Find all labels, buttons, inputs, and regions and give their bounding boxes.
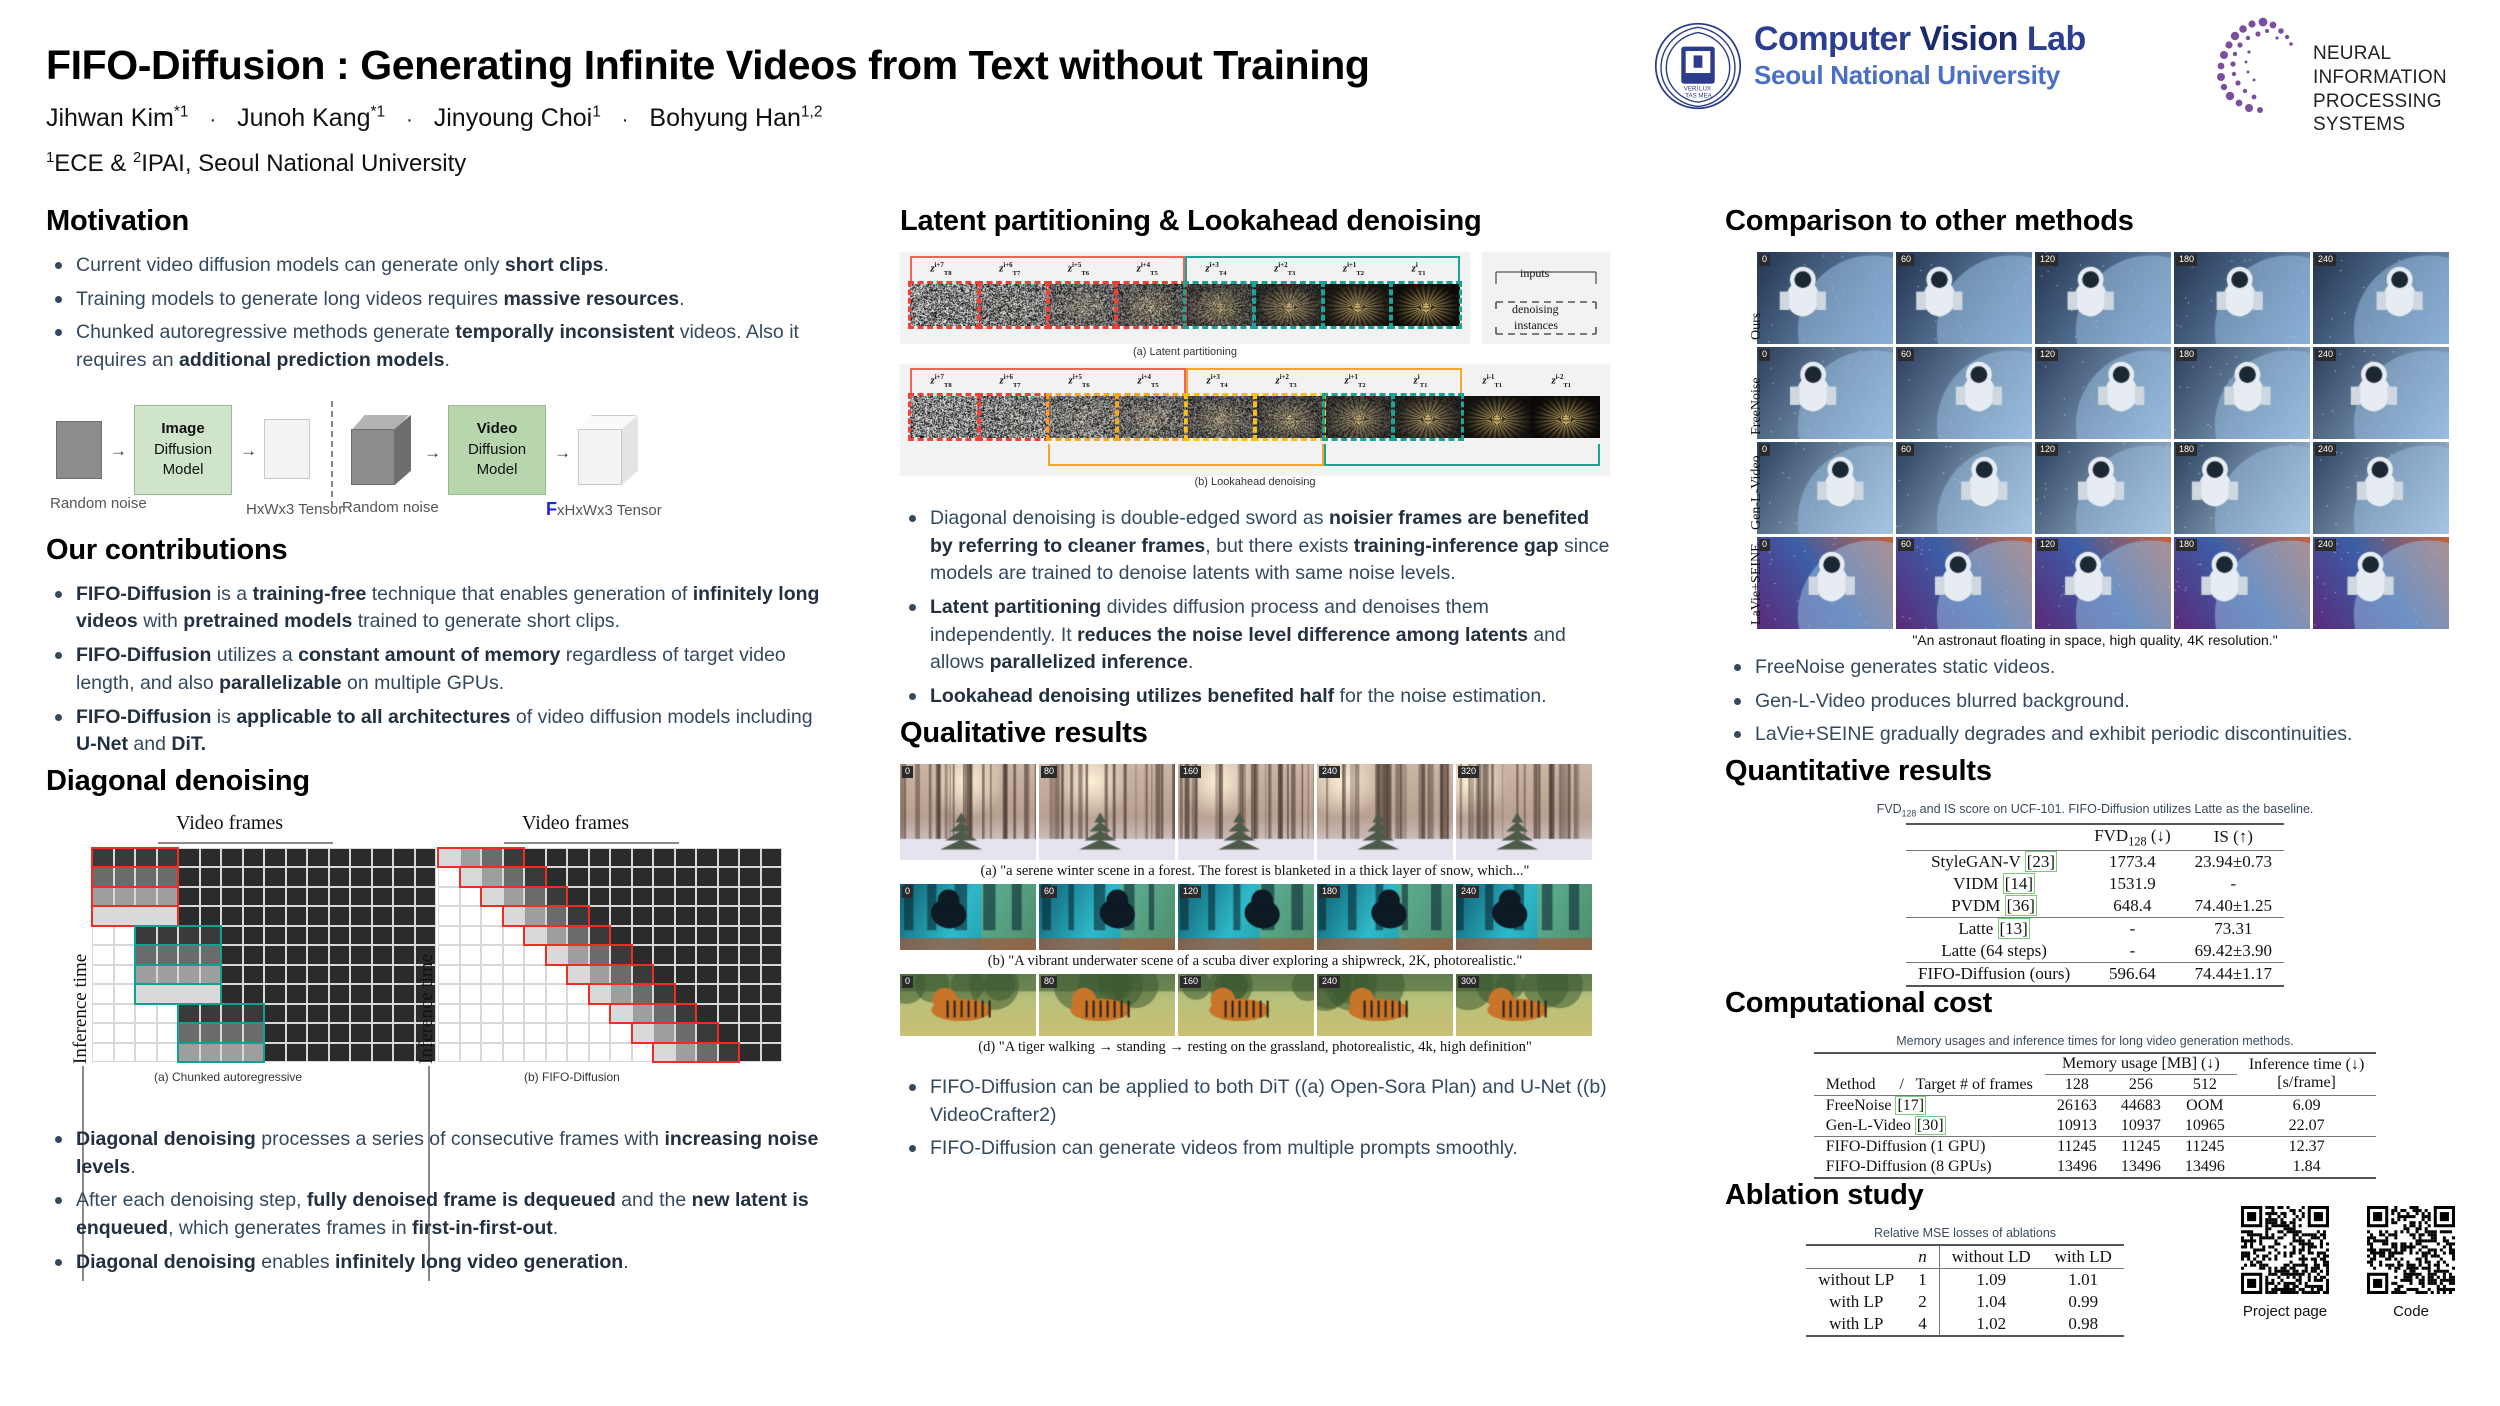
grid-cell [307, 984, 329, 1004]
neurips-wordmark: NEURAL INFORMATION PROCESSING SYSTEMS [2313, 42, 2495, 137]
frame-number-badge: 160 [1180, 766, 1201, 778]
grid-cell [350, 1004, 372, 1024]
grid-cell [524, 945, 546, 965]
grid-cell [503, 945, 525, 965]
grid-cell [92, 1043, 114, 1063]
author-2: Jinyoung Choi1 [434, 104, 601, 132]
video-frame: 240 [2313, 442, 2449, 534]
qr-code-group: Project page Code [2241, 1206, 2455, 1320]
grid-cell [761, 1004, 783, 1024]
grid-cell [221, 984, 243, 1004]
cv-lab-line2: Seoul National University [1754, 60, 2086, 91]
grid-cell [157, 906, 179, 926]
grid-cell [393, 887, 415, 907]
qr-project-page-item[interactable]: Project page [2241, 1206, 2329, 1320]
grid-cell [610, 848, 632, 868]
image-model-line3: Model [163, 460, 204, 480]
grid-cell [221, 1043, 243, 1063]
grid-cell [460, 887, 482, 907]
grid-cell [264, 984, 286, 1004]
grid-cell [200, 945, 222, 965]
grid-cell [243, 926, 265, 946]
grid-cell [632, 848, 654, 868]
grid-cell [675, 887, 697, 907]
grid-cell [221, 1004, 243, 1024]
grid-cell [739, 1004, 761, 1024]
frame-number-badge: 120 [2037, 539, 2058, 551]
grid-cell [372, 1023, 394, 1043]
frame-number-badge: 240 [2315, 539, 2336, 551]
grid-cell [307, 1023, 329, 1043]
frame-number-badge: 60 [1898, 444, 1914, 456]
grid-cell [135, 1023, 157, 1043]
grid-cell [653, 906, 675, 926]
grid-cell [329, 1023, 351, 1043]
grid-cell [567, 1043, 589, 1063]
grid-cell [264, 906, 286, 926]
grid-cell [632, 1023, 654, 1043]
grid-cell [481, 984, 503, 1004]
comparison-row: 060120180240 [1757, 537, 2465, 629]
grid-cell [307, 1004, 329, 1024]
grid-cell [653, 887, 675, 907]
grid-cell [460, 867, 482, 887]
grid-cell [610, 1004, 632, 1024]
qr-code-icon[interactable] [2367, 1206, 2455, 1294]
grid-cell [546, 926, 568, 946]
grid-cell [350, 1023, 372, 1043]
grid-cell [546, 945, 568, 965]
grid-cell [524, 1004, 546, 1024]
hwx3-tensor-label: HxWx3 Tensor [246, 501, 343, 518]
qr-project-page-label: Project page [2241, 1303, 2329, 1320]
grid-cell [243, 848, 265, 868]
grid-cell [589, 867, 611, 887]
grid-cell [438, 1023, 460, 1043]
list-item: Current video diffusion models can gener… [46, 252, 836, 280]
qr-project-page-icon[interactable] [2241, 1206, 2329, 1294]
grid-cell [610, 926, 632, 946]
video-frame: 180 [2174, 347, 2310, 439]
right-random-noise-label: Random noise [342, 499, 439, 516]
grid-cell [114, 1043, 136, 1063]
latent-frame [1462, 396, 1531, 438]
grid-cell [589, 848, 611, 868]
grid-cell [696, 887, 718, 907]
list-item: After each denoising step, fully denoise… [46, 1187, 836, 1242]
grid-cell [524, 887, 546, 907]
grid-cell [481, 945, 503, 965]
grid-cell [696, 1004, 718, 1024]
grid-cell [675, 1043, 697, 1063]
grid-cell [114, 906, 136, 926]
grid-cell [718, 867, 740, 887]
affiliation: 1ECE & 2IPAI, Seoul National University [46, 150, 466, 178]
poster-header: FIFO-Diffusion : Generating Infinite Vid… [0, 0, 2500, 185]
list-item: FIFO-Diffusion can generate videos from … [900, 1135, 1610, 1163]
qualitative-caption: (a) "a serene winter scene in a forest. … [900, 863, 1610, 880]
grid-cell [438, 906, 460, 926]
list-item: Gen-L-Video produces blurred background. [1725, 688, 2465, 716]
grid-cell [393, 945, 415, 965]
grid-cell [460, 945, 482, 965]
svg-text:MEA: MEA [1698, 93, 1712, 100]
grid-cell [264, 887, 286, 907]
grid-cell [739, 1023, 761, 1043]
grid-cell [610, 867, 632, 887]
grid-cell [307, 926, 329, 946]
grid-cell [92, 965, 114, 985]
grid-cell [632, 1004, 654, 1024]
svg-text:LUX: LUX [1699, 86, 1711, 93]
video-frame: 0 [1757, 537, 1893, 629]
grid-cell [329, 887, 351, 907]
grid-cell [200, 984, 222, 1004]
grid-cell [610, 906, 632, 926]
grid-cell [178, 1023, 200, 1043]
grid-cell [157, 867, 179, 887]
grid-cell [546, 1043, 568, 1063]
grid-cell [718, 965, 740, 985]
grid-cell [567, 906, 589, 926]
output-tensor-cube [578, 415, 638, 487]
fxhwx3-tensor-label: FxHxWx3 Tensor [546, 499, 662, 520]
frame-number-badge: 240 [2315, 254, 2336, 266]
grid-cell [653, 1043, 675, 1063]
grid-cell [696, 867, 718, 887]
video-frame: 180 [2174, 537, 2310, 629]
grid-cell [696, 984, 718, 1004]
video-frame: 160 [1178, 974, 1314, 1036]
grid-cell [567, 926, 589, 946]
grid-cell [114, 848, 136, 868]
grid-cell [481, 906, 503, 926]
denoising-instance-box [1115, 393, 1188, 441]
comparison-figure: 060120180240Ours060120180240FreeNoise060… [1725, 252, 2465, 629]
grid-cell [460, 1023, 482, 1043]
denoising-instance-box [1184, 393, 1257, 441]
grid-cell [739, 887, 761, 907]
grid-cell [632, 926, 654, 946]
frame-number-badge: 240 [1319, 766, 1340, 778]
grid-cell [696, 906, 718, 926]
x-axis-arrow-a [158, 842, 333, 844]
grid-cell [718, 945, 740, 965]
grid-cell [243, 1043, 265, 1063]
grid-cell [221, 926, 243, 946]
list-item: Diagonal denoising is double-edged sword… [900, 505, 1610, 588]
grid-cell [92, 945, 114, 965]
denoising-instance-box [1252, 281, 1325, 329]
grid-cell [481, 1043, 503, 1063]
frame-number-badge: 180 [2176, 444, 2197, 456]
grid-cell [329, 1043, 351, 1063]
section-heading-diagonal-denoising: Diagonal denoising [46, 765, 836, 798]
quantitative-results-table: FVD128 (↓)IS (↑)StyleGAN-V [23]1773.423.… [1906, 823, 2284, 987]
ablation-study-table: nwithout LDwith LDwithout LP11.091.01wit… [1806, 1244, 2124, 1337]
grid-cell [675, 965, 697, 985]
grid-cell [329, 906, 351, 926]
page-title: FIFO-Diffusion : Generating Infinite Vid… [46, 42, 1369, 89]
grid-cell [307, 887, 329, 907]
column-middle: Latent partitioning & Lookahead denoisin… [900, 205, 1610, 1169]
citation-ref: [36] [2005, 895, 2037, 916]
grid-cell [438, 965, 460, 985]
grid-cell [135, 984, 157, 1004]
video-frame: 60 [1896, 252, 2032, 344]
grid-cell [415, 887, 437, 907]
grid-cell [438, 848, 460, 868]
grid-cell [157, 984, 179, 1004]
grid-cell [393, 1043, 415, 1063]
grid-cell [632, 965, 654, 985]
frame-number-badge: 120 [2037, 254, 2058, 266]
grid-cell [546, 887, 568, 907]
grid-cell [567, 1004, 589, 1024]
grid-cell [460, 1043, 482, 1063]
grid-cell [264, 926, 286, 946]
grid-cell [372, 926, 394, 946]
video-frame: 120 [2035, 537, 2171, 629]
grid-cell [481, 1004, 503, 1024]
grid-cell [372, 906, 394, 926]
comparison-caption: "An astronaut floating in space, high qu… [1725, 632, 2465, 648]
computational-table-caption: Memory usages and inference times for lo… [1725, 1034, 2465, 1048]
grid-cell [264, 1023, 286, 1043]
arrow-icon: → [110, 441, 127, 461]
denoising-instance-box [1114, 281, 1187, 329]
cv-lab-wordmark: Computer Vision Lab Seoul National Unive… [1754, 22, 2086, 91]
video-frame: 0 [900, 884, 1036, 950]
video-frame: 180 [2174, 442, 2310, 534]
grid-cell [503, 848, 525, 868]
grid-cell [178, 887, 200, 907]
frame-number-badge: 120 [2037, 444, 2058, 456]
video-frame: 240 [2313, 537, 2449, 629]
video-frame: 0 [1757, 442, 1893, 534]
comparison-row-label: Ours [1749, 313, 1765, 340]
list-item: FIFO-Diffusion can be applied to both Di… [900, 1074, 1610, 1129]
grid-cell [135, 867, 157, 887]
list-item: FIFO-Diffusion is a training-free techni… [46, 581, 836, 636]
grid-cell [718, 984, 740, 1004]
grid-cell [696, 1043, 718, 1063]
grid-cell [307, 867, 329, 887]
latent-partitioning-figure: zi+7T8zi+6T7zi+5T6zi+4T5zi+3T4zi+2T3zi+1… [900, 252, 1610, 487]
grid-cell [221, 945, 243, 965]
grid-cell [200, 926, 222, 946]
list-item: Chunked autoregressive methods generate … [46, 319, 836, 374]
section-heading-qualitative-results: Qualitative results [900, 717, 1610, 750]
citation-ref: [23] [2025, 851, 2057, 872]
frame-number-badge: 180 [2176, 539, 2197, 551]
grid-cell [438, 1043, 460, 1063]
section-heading-quantitative: Quantitative results [1725, 755, 2465, 788]
grid-cell [329, 867, 351, 887]
author-separator-2: · [608, 109, 643, 131]
denoising-instance-box [1391, 393, 1464, 441]
frame-number-badge: 120 [1180, 886, 1201, 898]
frame-number-badge: 240 [2315, 349, 2336, 361]
denoising-instance-box [977, 393, 1050, 441]
grid-cell [178, 848, 200, 868]
grid-cell [481, 867, 503, 887]
grid-cell [393, 926, 415, 946]
grid-cell [329, 984, 351, 1004]
table-row: with LP41.020.98 [1806, 1313, 2124, 1336]
grid-cell [243, 965, 265, 985]
grid-cell [243, 906, 265, 926]
grid-cell [114, 1023, 136, 1043]
latent-partitioning-bullets: Diagonal denoising is double-edged sword… [900, 505, 1610, 711]
grid-cell [243, 984, 265, 1004]
inference-time-label-b: Inference time [416, 954, 438, 1064]
grid-cell [675, 906, 697, 926]
denoising-instance-box [1389, 281, 1462, 329]
grid-cell [415, 848, 437, 868]
qr-code-label: Code [2367, 1303, 2455, 1320]
table-row: VIDM [14]1531.9- [1906, 873, 2284, 895]
grid-cell [114, 965, 136, 985]
frame-number-badge: 80 [1041, 976, 1057, 988]
motivation-figure: → Image Diffusion Model → Random noise H… [46, 399, 836, 534]
grid-cell [653, 1023, 675, 1043]
table-row: Latte (64 steps)-69.42±3.90 [1906, 940, 2284, 963]
grid-cell [329, 1004, 351, 1024]
video-frames-label-a: Video frames [176, 812, 283, 835]
list-item: FreeNoise generates static videos. [1725, 654, 2465, 682]
table-row: PVDM [36]648.474.40±1.25 [1906, 895, 2284, 918]
partition-bracket [1185, 256, 1460, 282]
video-frame: 120 [2035, 347, 2171, 439]
comparison-row: 060120180240 [1757, 252, 2465, 344]
frame-number-badge: 180 [1319, 886, 1340, 898]
video-frame: 180 [1317, 884, 1453, 950]
section-heading-computational-cost: Computational cost [1725, 987, 2465, 1020]
grid-cell [264, 945, 286, 965]
grid-cell [157, 887, 179, 907]
grid-cell [546, 1004, 568, 1024]
grid-cell [567, 965, 589, 985]
frame-number-badge: 0 [902, 766, 913, 778]
grid-cell [372, 1043, 394, 1063]
denoising-instance-box [908, 393, 981, 441]
grid-cell [243, 1023, 265, 1043]
grid-cell [589, 945, 611, 965]
neurips-logo: NEURAL INFORMATION PROCESSING SYSTEMS [2205, 14, 2495, 114]
grid-cell [178, 984, 200, 1004]
grid-cell [524, 926, 546, 946]
citation-ref: [13] [1998, 918, 2030, 939]
grid-cell [761, 1043, 783, 1063]
grid-cell [739, 906, 761, 926]
frame-number-badge: 0 [1759, 349, 1770, 361]
grid-cell [114, 887, 136, 907]
grid-cell [653, 926, 675, 946]
list-item: Lookahead denoising utilizes benefited h… [900, 683, 1610, 711]
qualitative-bullets: FIFO-Diffusion can be applied to both Di… [900, 1074, 1610, 1163]
grid-cell [135, 848, 157, 868]
denoising-instance-box [908, 281, 981, 329]
table-row: without LP11.091.01 [1806, 1268, 2124, 1291]
grid-cell [546, 906, 568, 926]
image-model-line2: Diffusion [154, 440, 212, 460]
grid-cell [329, 965, 351, 985]
qualitative-results-figure: 080160240320(a) "a serene winter scene i… [900, 764, 1610, 1056]
list-item: FIFO-Diffusion is applicable to all arch… [46, 704, 836, 759]
grid-cell [264, 1043, 286, 1063]
grid-cell [372, 945, 394, 965]
frame-number-badge: 60 [1898, 254, 1914, 266]
grid-cell [696, 848, 718, 868]
grid-cell [393, 1004, 415, 1024]
legend-instances-label: instances [1514, 318, 1558, 333]
grid-cell [157, 1004, 179, 1024]
grid-cell [200, 848, 222, 868]
grid-cell [653, 1004, 675, 1024]
grid-cell [610, 1043, 632, 1063]
comparison-row: 060120180240 [1757, 347, 2465, 439]
grid-cell [761, 887, 783, 907]
grid-cell [481, 965, 503, 985]
grid-cell [546, 848, 568, 868]
grid-cell [653, 945, 675, 965]
video-frame: 180 [2174, 252, 2310, 344]
grid-cell [157, 1023, 179, 1043]
figure-divider [331, 401, 333, 507]
grid-cell [286, 906, 308, 926]
qr-code-item[interactable]: Code [2367, 1206, 2455, 1320]
grid-cell [200, 906, 222, 926]
grid-cell [415, 906, 437, 926]
video-frame: 300 [1456, 974, 1592, 1036]
partition-bracket [910, 256, 1185, 282]
chunked-autoregressive-grid [92, 848, 436, 1063]
grid-cell [393, 906, 415, 926]
grid-cell [114, 945, 136, 965]
frame-number-badge: 0 [902, 886, 913, 898]
grid-cell [761, 867, 783, 887]
grid-cell [92, 887, 114, 907]
grid-cell [350, 887, 372, 907]
grid-cell [696, 926, 718, 946]
grid-cell [460, 984, 482, 1004]
grid-cell [567, 945, 589, 965]
video-model-line2: Diffusion [468, 440, 526, 460]
diagonal-denoising-bullets: Diagonal denoising processes a series of… [46, 1126, 836, 1276]
grid-cell [286, 945, 308, 965]
grid-cell [632, 1043, 654, 1063]
qualitative-frame-strip: 080160240300 [900, 974, 1610, 1036]
grid-cell [481, 887, 503, 907]
grid-cell [329, 848, 351, 868]
frame-number-badge: 60 [1898, 539, 1914, 551]
latent-frame [1531, 396, 1600, 438]
left-random-noise-label: Random noise [50, 495, 147, 512]
grid-cell [567, 848, 589, 868]
grid-cell [92, 926, 114, 946]
video-frame: 240 [1317, 974, 1453, 1036]
grid-cell [393, 984, 415, 1004]
grid-cell [286, 867, 308, 887]
author-separator-0: · [195, 109, 230, 131]
grid-cell [221, 965, 243, 985]
citation-ref: [30] [1915, 1116, 1946, 1135]
grid-cell [114, 984, 136, 1004]
grid-cell [200, 1023, 222, 1043]
grid-cell [653, 984, 675, 1004]
column-left: Motivation Current video diffusion model… [46, 205, 836, 1282]
